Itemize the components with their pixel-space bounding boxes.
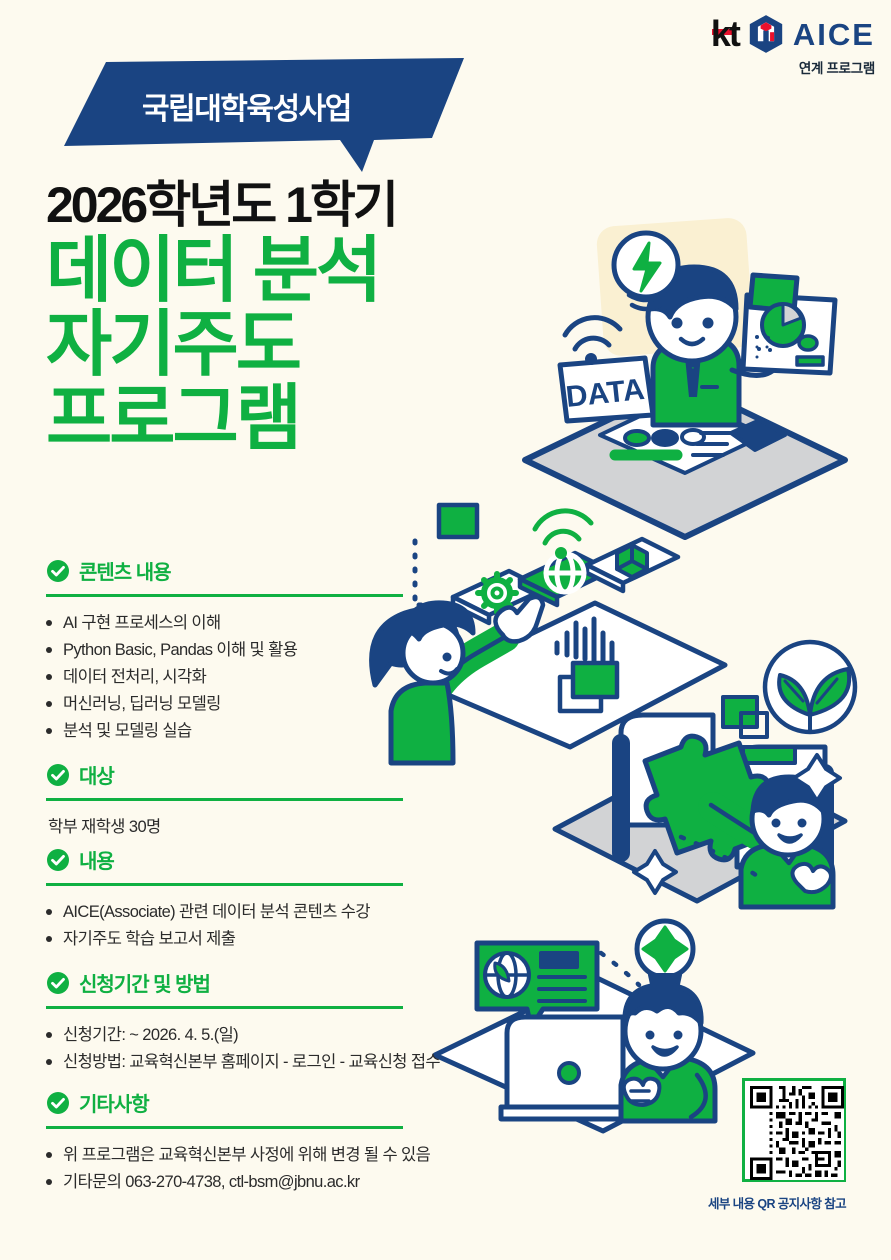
check-circle-icon [46,763,70,787]
bullet-dot [46,728,52,734]
bullet-dot [46,1032,52,1038]
qr-frame [742,1078,846,1182]
bullet-dot [46,647,52,653]
section-contents: 콘텐츠 내용 AI 구현 프로세스의 이해 Python Basic, Pand… [46,556,426,745]
list-item-label: 신청방법: 교육혁신본부 홈페이지 - 로그인 - 교육신청 접수 [63,1049,440,1076]
section-title: 대상 [79,760,114,789]
section-rule [46,883,403,886]
list-item: AICE(Associate) 관련 데이터 분석 콘텐츠 수강 [46,899,426,926]
section-body: AI 구현 프로세스의 이해 Python Basic, Pandas 이해 및… [46,610,426,745]
section-etc: 기타사항 위 프로그램은 교육혁신본부 사정에 위해 변경 될 수 있음 기타문… [46,1088,426,1196]
headline-line-2: 데이터 분석 [46,234,566,308]
section-text: 학부 재학생 30명 [46,814,426,841]
section-body: AICE(Associate) 관련 데이터 분석 콘텐츠 수강 자기주도 학습… [46,899,426,953]
section-header: 콘텐츠 내용 [46,556,426,585]
logo-subtitle: 연계 프로그램 [711,57,875,77]
section-title: 내용 [79,845,114,874]
list-item-label: AICE(Associate) 관련 데이터 분석 콘텐츠 수강 [63,899,370,926]
list-item: 데이터 전처리, 시각화 [46,664,426,691]
laptop-person-illustration [435,905,785,1170]
check-circle-icon [46,1091,70,1115]
bullet-dot [46,1059,52,1065]
section-header: 신청기간 및 방법 [46,968,426,997]
list-item: 신청기간: ~ 2026. 4. 5.(일) [46,1022,426,1049]
section-rule [46,1006,403,1009]
bullet-dot [46,1152,52,1158]
section-header: 기타사항 [46,1088,426,1117]
section-title: 콘텐츠 내용 [79,556,171,585]
section-title: 신청기간 및 방법 [79,968,210,997]
list-item-label: 신청기간: ~ 2026. 4. 5.(일) [63,1022,238,1049]
headline-line-4: 프로그램 [46,382,566,456]
logo-row: kt AICE [711,14,875,54]
list-item: 자기주도 학습 보고서 제출 [46,926,426,953]
qr-code-icon[interactable] [750,1086,844,1180]
bullet-dot [46,1179,52,1185]
headline-line-1: 2026학년도 1학기 [46,176,566,234]
kt-logo: kt [711,16,739,52]
check-circle-icon [46,559,70,583]
aice-logo-text: AICE [793,19,875,50]
headline-block: 2026학년도 1학기 데이터 분석 자기주도 프로그램 [46,176,566,456]
list-item: 기타문의 063-270-4738, ctl-bsm@jbnu.ac.kr [46,1169,426,1196]
logo-block: kt AICE 연계 프로그램 [711,14,875,77]
section-rule [46,594,403,597]
section-apply: 신청기간 및 방법 신청기간: ~ 2026. 4. 5.(일) 신청방법: 교… [46,968,426,1076]
list-item-label: Python Basic, Pandas 이해 및 활용 [63,637,297,664]
woman-touching-ui-illustration [395,485,725,775]
section-header: 대상 [46,760,426,789]
section-body: 위 프로그램은 교육혁신본부 사정에 위해 변경 될 수 있음 기타문의 063… [46,1142,426,1196]
section-target: 대상 학부 재학생 30명 [46,760,426,841]
qr-block: 세부 내용 QR 공지사항 참고 [735,1078,853,1212]
ribbon-label: 국립대학육성사업 [142,84,351,128]
list-item: 위 프로그램은 교육혁신본부 사정에 위해 변경 될 수 있음 [46,1142,426,1169]
bullet-dot [46,620,52,626]
list-item-label: 머신러닝, 딥러닝 모델링 [63,691,221,718]
section-body: 학부 재학생 30명 [46,814,426,841]
list-item: 머신러닝, 딥러닝 모델링 [46,691,426,718]
headline-line-3: 자기주도 [46,308,566,382]
bullet-dot [46,674,52,680]
list-item-label: 데이터 전처리, 시각화 [63,664,206,691]
ribbon-banner: 국립대학육성사업 [44,54,464,174]
qr-caption: 세부 내용 QR 공지사항 참고 [701,1193,853,1212]
list-item: 분석 및 모델링 실습 [46,718,426,745]
pale-yellow-backdrop [600,222,800,392]
puzzle-piece-illustration [545,615,891,915]
list-item: AI 구현 프로세스의 이해 [46,610,426,637]
bullet-dot [46,909,52,915]
section-rule [46,1126,403,1129]
list-item-label: 위 프로그램은 교육혁신본부 사정에 위해 변경 될 수 있음 [63,1142,430,1169]
list-item-label: 자기주도 학습 보고서 제출 [63,926,235,953]
check-circle-icon [46,848,70,872]
kt-logo-text: kt [711,13,739,54]
bullet-dot [46,936,52,942]
section-detail: 내용 AICE(Associate) 관련 데이터 분석 콘텐츠 수강 자기주도… [46,845,426,953]
list-item: 신청방법: 교육혁신본부 홈페이지 - 로그인 - 교육신청 접수 [46,1049,426,1076]
section-body: 신청기간: ~ 2026. 4. 5.(일) 신청방법: 교육혁신본부 홈페이지… [46,1022,426,1076]
list-item-label: 기타문의 063-270-4738, ctl-bsm@jbnu.ac.kr [63,1169,359,1196]
bullet-dot [46,701,52,707]
poster-canvas: DATA [0,0,891,1260]
section-title: 기타사항 [79,1088,149,1117]
list-item-label: 분석 및 모델링 실습 [63,718,192,745]
list-item-label: AI 구현 프로세스의 이해 [63,610,221,637]
aice-cube-icon [748,14,784,54]
data-label: DATA [564,373,646,414]
section-header: 내용 [46,845,426,874]
section-rule [46,798,403,801]
list-item: Python Basic, Pandas 이해 및 활용 [46,637,426,664]
check-circle-icon [46,971,70,995]
